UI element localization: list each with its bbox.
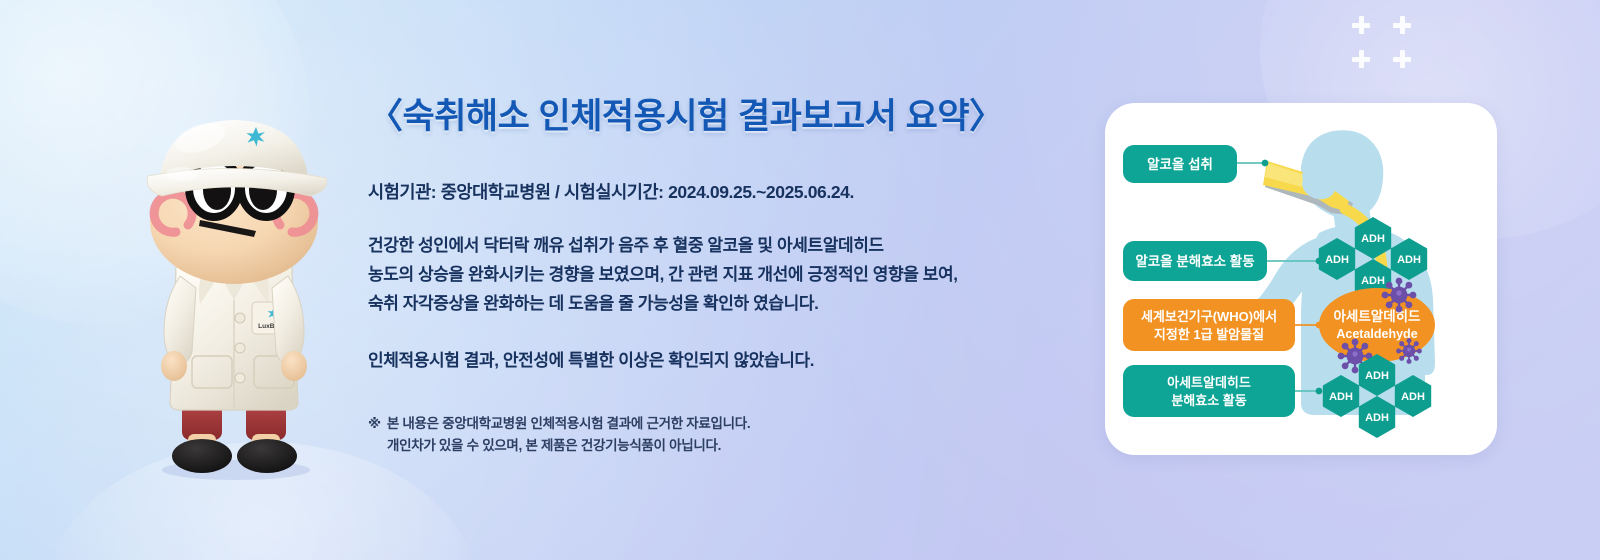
- connector-dot: [1262, 160, 1269, 167]
- plus-icon: [1393, 50, 1411, 68]
- label-who-line-1: 세계보건기구(WHO)에서: [1141, 309, 1277, 324]
- reference-mark-icon: ※: [368, 416, 381, 431]
- summary-line-1: 건강한 성인에서 닥터락 깨유 섭취가 음주 후 혈중 알코올 및 아세트알데히…: [368, 231, 1068, 260]
- label-aldh-line-1: 아세트알데히드: [1167, 375, 1251, 390]
- label-alcohol-intake-text: 알코올 섭취: [1147, 156, 1213, 172]
- text-content-column: 〈숙취해소 인체적용시험 결과보고서 요약〉 시험기관: 중앙대학교병원 / 시…: [368, 88, 1068, 457]
- label-who-line-2: 지정한 1급 발암물질: [1154, 327, 1264, 342]
- acetaldehyde-english-label: Acetaldehyde: [1336, 327, 1417, 341]
- summary-line-2: 농도의 상승을 완화시키는 경향을 보였으며, 간 관련 지표 개선에 긍정적인…: [368, 260, 1068, 289]
- disclaimer-block: ※본 내용은 중앙대학교병원 인체적용시험 결과에 근거한 자료입니다. 개인차…: [368, 413, 1068, 457]
- summary-line-3: 숙취 자각증상을 완화하는 데 도움을 줄 가능성을 확인하 였습니다.: [368, 289, 1068, 318]
- label-alcohol-intake[interactable]: 알코올 섭취: [1123, 145, 1237, 183]
- safety-conclusion: 인체적용시험 결과, 안전성에 특별한 이상은 확인되지 않았습니다.: [368, 346, 1068, 371]
- connector-dot: [1316, 258, 1323, 265]
- plus-decoration-group: [1352, 16, 1418, 68]
- summary-paragraph: 건강한 성인에서 닥터락 깨유 섭취가 음주 후 혈중 알코올 및 아세트알데히…: [368, 231, 1068, 318]
- adh-enzyme-label: ADH: [1365, 412, 1389, 424]
- connector-dot: [1316, 388, 1323, 395]
- label-who-carcinogen[interactable]: 세계보건기구(WHO)에서 지정한 1급 발암물질: [1123, 299, 1295, 351]
- plus-icon: [1352, 50, 1370, 68]
- adh-enzyme-label: ADH: [1397, 254, 1421, 266]
- acetaldehyde-korean-label: 아세트알데히드: [1334, 308, 1422, 324]
- label-adh-activity[interactable]: 알코올 분해효소 활동: [1123, 241, 1267, 281]
- adh-enzyme-label: ADH: [1361, 233, 1385, 245]
- promo-banner: LuxBiome: [0, 0, 1600, 560]
- mascot-doctor-character: LuxBiome: [104, 104, 364, 484]
- adh-enzyme-label: ADH: [1325, 254, 1349, 266]
- disclaimer-text-1: 본 내용은 중앙대학교병원 인체적용시험 결과에 근거한 자료입니다.: [387, 416, 751, 431]
- label-aldh-line-2: 분해효소 활동: [1171, 393, 1246, 408]
- label-adh-activity-text: 알코올 분해효소 활동: [1135, 253, 1254, 269]
- page-title: 〈숙취해소 인체적용시험 결과보고서 요약〉: [368, 88, 1068, 139]
- disclaimer-line-2: 개인차가 있을 수 있으며, 본 제품은 건강기능식품이 아닙니다.: [368, 435, 1068, 457]
- adh-enzyme-label: ADH: [1401, 391, 1425, 403]
- label-aldh-activity[interactable]: 아세트알데히드 분해효소 활동: [1123, 365, 1295, 417]
- virus-particle-icon: [1396, 338, 1422, 364]
- adh-enzyme-label: ADH: [1329, 391, 1353, 403]
- adh-enzyme-label: ADH: [1365, 370, 1389, 382]
- connector-dot: [1316, 322, 1323, 329]
- trial-meta-line: 시험기관: 중앙대학교병원 / 시험실시기간: 2024.09.25.~2025…: [368, 179, 1068, 204]
- plus-icon: [1352, 16, 1370, 34]
- virus-particle-icon: [1382, 278, 1417, 313]
- alcohol-metabolism-infographic-card: ADH ADH ADH ADH 아세트알데히드 Acetaldehyde ADH: [1105, 103, 1497, 455]
- plus-icon: [1393, 16, 1411, 34]
- adh-enzyme-label: ADH: [1361, 275, 1385, 287]
- disclaimer-line-1: ※본 내용은 중앙대학교병원 인체적용시험 결과에 근거한 자료입니다.: [368, 413, 1068, 435]
